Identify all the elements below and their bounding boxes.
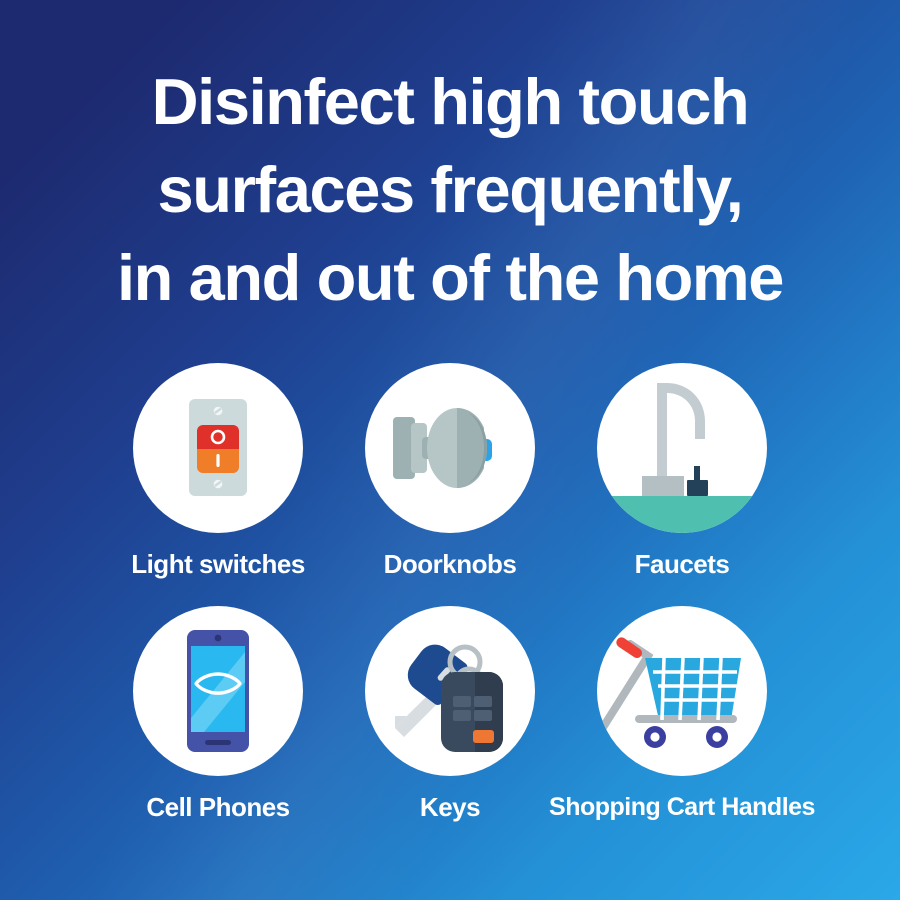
- infographic-poster: Disinfect high touch surfaces frequently…: [0, 0, 900, 900]
- grid-item-faucets: Faucets: [566, 363, 798, 579]
- icon-label-faucets: Faucets: [635, 549, 730, 579]
- faucet-icon: [597, 363, 767, 533]
- icon-badge-faucets: [597, 363, 767, 533]
- doorknob-icon: [365, 363, 535, 533]
- headline-line-2: surfaces frequently,: [0, 146, 900, 234]
- icon-label-doorknobs: Doorknobs: [384, 549, 517, 579]
- icon-label-light-switches: Light switches: [131, 549, 305, 579]
- shopping-cart-icon: [597, 606, 767, 776]
- icon-row-top: Light switches Doorknobs: [0, 363, 900, 579]
- icon-label-keys: Keys: [420, 792, 480, 822]
- grid-item-shopping-cart-handles: Shopping Cart Handles: [566, 606, 798, 822]
- icon-grid: Light switches Doorknobs: [0, 363, 900, 822]
- page-title: Disinfect high touch surfaces frequently…: [0, 58, 900, 322]
- grid-item-light-switches: Light switches: [102, 363, 334, 579]
- keys-icon: [365, 606, 535, 776]
- icon-badge-keys: [365, 606, 535, 776]
- grid-item-doorknobs: Doorknobs: [334, 363, 566, 579]
- icon-row-bottom: Cell Phones: [0, 606, 900, 822]
- icon-badge-light-switches: [133, 363, 303, 533]
- cell-phone-icon: [133, 606, 303, 776]
- grid-item-cell-phones: Cell Phones: [102, 606, 334, 822]
- icon-badge-doorknobs: [365, 363, 535, 533]
- icon-badge-shopping-cart-handles: [597, 606, 767, 776]
- headline-line-1: Disinfect high touch: [0, 58, 900, 146]
- icon-label-shopping-cart-handles: Shopping Cart Handles: [549, 792, 815, 822]
- headline-line-3: in and out of the home: [0, 234, 900, 322]
- light-switch-icon: [133, 363, 303, 533]
- icon-label-cell-phones: Cell Phones: [146, 792, 289, 822]
- grid-item-keys: Keys: [334, 606, 566, 822]
- icon-badge-cell-phones: [133, 606, 303, 776]
